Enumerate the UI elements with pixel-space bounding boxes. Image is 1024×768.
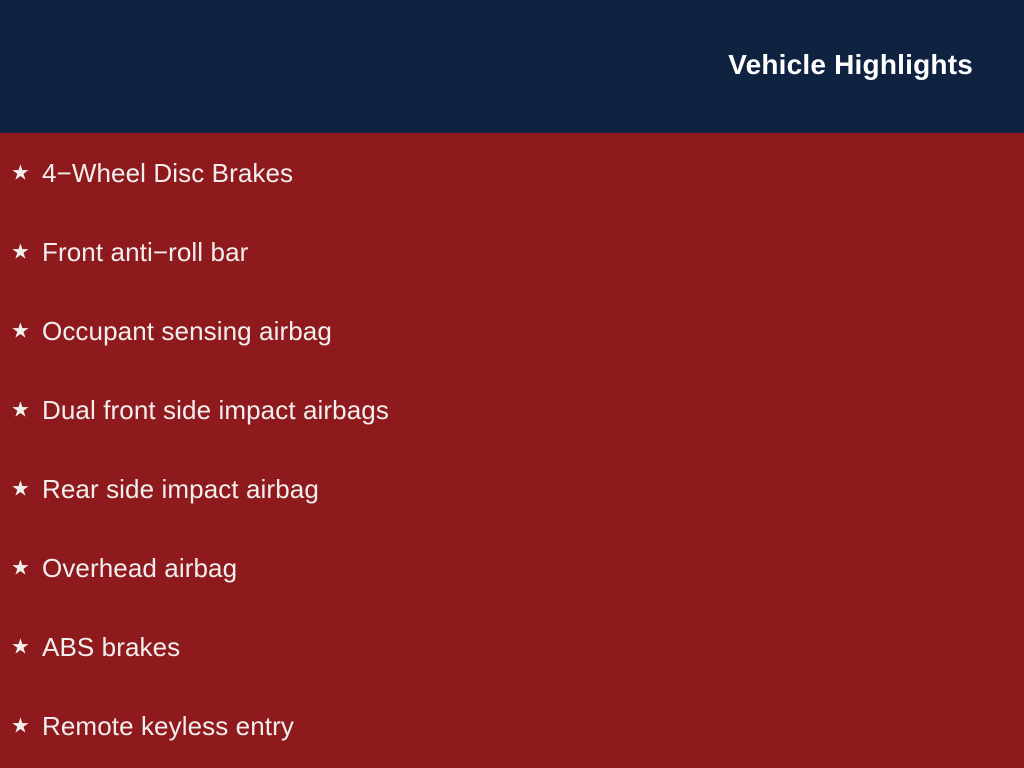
star-bullet-icon: ★: [11, 715, 33, 736]
list-item-label: Rear side impact airbag: [42, 473, 319, 505]
list-item: ★ Remote keyless entry: [0, 686, 1024, 765]
star-bullet-icon: ★: [11, 241, 33, 262]
star-bullet-icon: ★: [11, 399, 33, 420]
slide-header-bar: Vehicle Highlights: [0, 0, 1024, 133]
list-item: ★ ABS brakes: [0, 607, 1024, 686]
star-bullet-icon: ★: [11, 478, 33, 499]
list-item-label: Overhead airbag: [42, 552, 237, 584]
list-item-label: Remote keyless entry: [42, 710, 294, 742]
list-item: ★ Front anti−roll bar: [0, 212, 1024, 291]
list-item-label: Front anti−roll bar: [42, 236, 248, 268]
star-bullet-icon: ★: [11, 320, 33, 341]
vehicle-highlights-list: ★ 4−Wheel Disc Brakes ★ Front anti−roll …: [0, 133, 1024, 765]
list-item: ★ 4−Wheel Disc Brakes: [0, 133, 1024, 212]
slide-root: Vehicle Highlights ★ 4−Wheel Disc Brakes…: [0, 0, 1024, 768]
list-item: ★ Overhead airbag: [0, 528, 1024, 607]
list-item-label: Dual front side impact airbags: [42, 394, 389, 426]
list-item: ★ Dual front side impact airbags: [0, 370, 1024, 449]
star-bullet-icon: ★: [11, 636, 33, 657]
list-item-label: 4−Wheel Disc Brakes: [42, 157, 293, 189]
star-bullet-icon: ★: [11, 162, 33, 183]
list-item-label: ABS brakes: [42, 631, 180, 663]
slide-body: ★ 4−Wheel Disc Brakes ★ Front anti−roll …: [0, 133, 1024, 768]
page-title: Vehicle Highlights: [728, 48, 973, 82]
list-item-label: Occupant sensing airbag: [42, 315, 332, 347]
list-item: ★ Rear side impact airbag: [0, 449, 1024, 528]
star-bullet-icon: ★: [11, 557, 33, 578]
list-item: ★ Occupant sensing airbag: [0, 291, 1024, 370]
